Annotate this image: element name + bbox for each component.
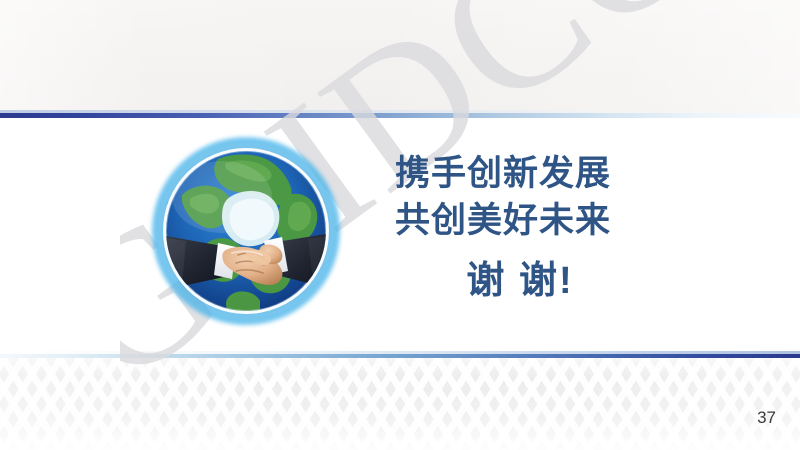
headline-line-2: 共创美好未来 <box>395 197 735 244</box>
lattice-fade-overlay <box>0 358 800 450</box>
closing-thanks-text: 谢 谢! <box>395 256 645 306</box>
page-number: 37 <box>757 408 776 428</box>
headline-line-1: 携手创新发展 <box>395 150 735 197</box>
emblem-disc <box>166 151 326 311</box>
slide-headline: 携手创新发展 共创美好未来 <box>395 150 735 244</box>
bottom-background-band <box>0 358 800 450</box>
presentation-slide: GEIDCO <box>0 0 800 450</box>
top-background-band <box>0 0 800 114</box>
globe-handshake-emblem <box>152 137 340 325</box>
